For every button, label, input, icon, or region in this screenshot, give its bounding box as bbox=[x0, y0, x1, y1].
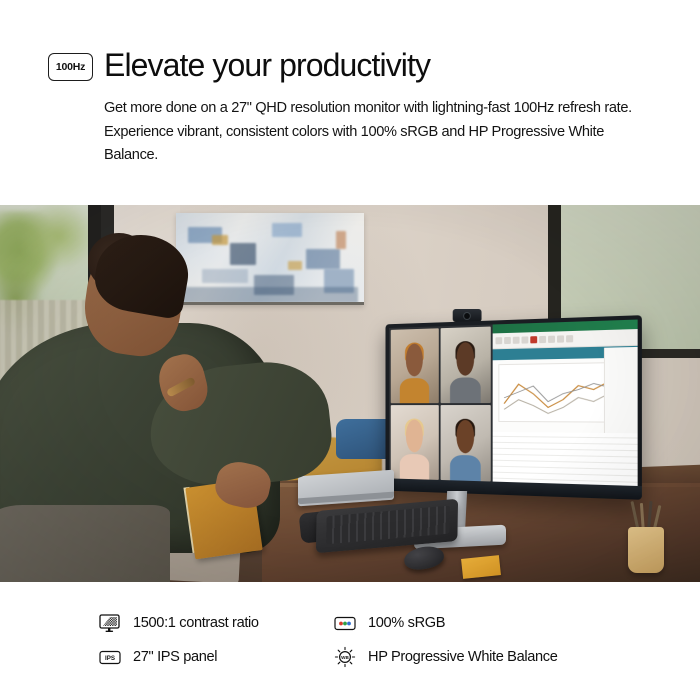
feature-srgb-coverage: 100% sRGB bbox=[333, 606, 557, 640]
page-title: Elevate your productivity bbox=[104, 46, 430, 84]
refresh-rate-badge: 100Hz bbox=[48, 53, 93, 81]
feature-list-section: 1500:1 contrast ratio IPS 27" IPS panel bbox=[0, 582, 700, 700]
feature-label: 27" IPS panel bbox=[133, 649, 217, 665]
photo-vignette bbox=[0, 205, 700, 582]
feature-white-balance: WB HP Progressive White Ba bbox=[333, 640, 557, 674]
lifestyle-photo bbox=[0, 205, 700, 582]
feature-ips-panel: IPS 27" IPS panel bbox=[98, 640, 259, 674]
feature-label: HP Progressive White Balance bbox=[368, 649, 557, 665]
svg-text:WB: WB bbox=[341, 655, 349, 660]
badge-heading-row: 100Hz Elevate your productivity bbox=[48, 46, 430, 84]
ips-panel-icon: IPS bbox=[98, 647, 122, 667]
feature-label: 100% sRGB bbox=[368, 615, 445, 631]
feature-column-left: 1500:1 contrast ratio IPS 27" IPS panel bbox=[98, 606, 259, 674]
header-subcopy: Get more done on a 27" QHD resolution mo… bbox=[104, 97, 644, 168]
white-balance-sun-icon: WB bbox=[333, 647, 357, 667]
product-feature-page: 100Hz Elevate your productivity Get more… bbox=[0, 0, 700, 700]
feature-label: 1500:1 contrast ratio bbox=[133, 615, 259, 631]
srgb-color-dots-icon bbox=[333, 613, 357, 633]
feature-column-right: 100% sRGB WB bbox=[333, 606, 557, 674]
contrast-monitor-icon bbox=[98, 613, 122, 633]
feature-contrast-ratio: 1500:1 contrast ratio bbox=[98, 606, 259, 640]
header-section: 100Hz Elevate your productivity Get more… bbox=[0, 0, 700, 205]
svg-text:IPS: IPS bbox=[105, 655, 115, 662]
